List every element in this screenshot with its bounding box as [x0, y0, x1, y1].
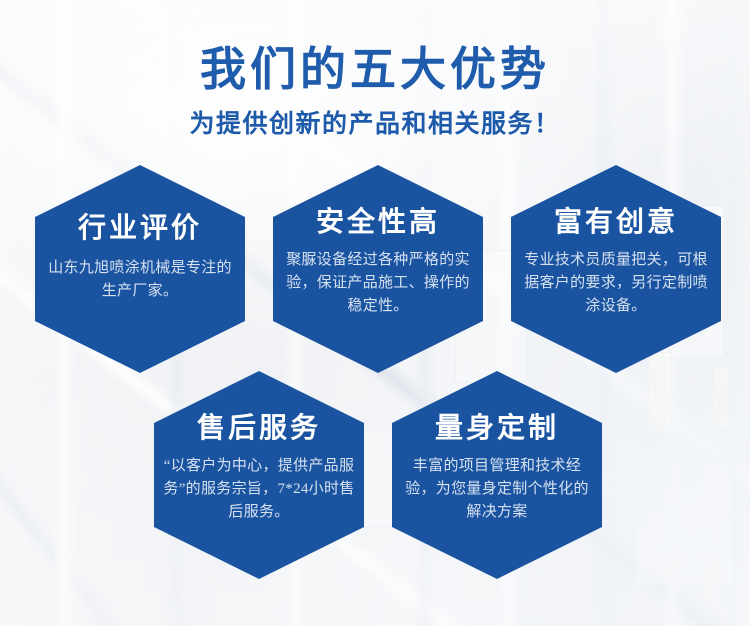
advantage-card-body: 山东九旭喷涂机械是专注的生产厂家。	[44, 243, 236, 303]
heading-block: 我们的五大优势 为提供创新的产品和相关服务！	[0, 0, 750, 140]
advantage-card-body: 聚脲设备经过各种严格的实验，保证产品施工、操作的稳定性。	[282, 237, 474, 317]
advantage-card-body: 专业技术员质量把关，可根据客户的要求，另行定制喷涂设备。	[520, 237, 712, 317]
advantage-card-body: 丰富的项目管理和技术经验，为您量身定制个性化的解决方案	[401, 443, 593, 523]
five-advantages-banner: 我们的五大优势 为提供创新的产品和相关服务！ 行业评价 山东九旭喷涂机械是专注的…	[0, 0, 750, 626]
advantage-card-body: “以客户为中心，提供产品服务”的服务宗旨，7*24小时售后服务。	[163, 443, 355, 523]
page-subtitle: 为提供创新的产品和相关服务！	[0, 104, 750, 140]
page-title: 我们的五大优势	[0, 0, 750, 95]
